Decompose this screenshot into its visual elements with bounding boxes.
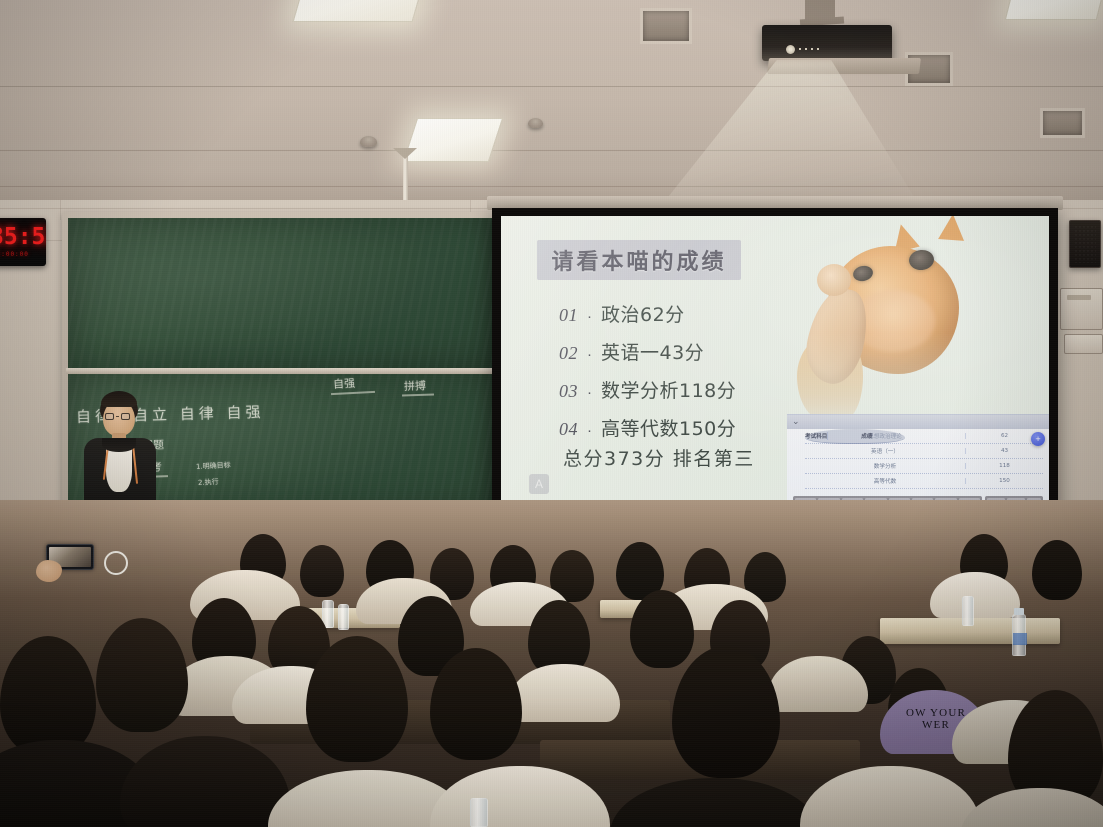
cell-score: 150 <box>965 478 1043 484</box>
projector-lens-icon <box>786 45 795 54</box>
list-item-separator: · <box>587 308 592 325</box>
list-item-number: 03 <box>559 381 578 402</box>
audience-head <box>300 545 344 597</box>
smoke-detector-icon <box>360 136 377 147</box>
list-item-separator: · <box>587 422 592 439</box>
water-bottle <box>962 596 974 626</box>
chalk-line: 1.明确目标 <box>196 460 231 472</box>
floating-action-button[interactable]: + <box>1031 432 1045 446</box>
embedded-score-table-screenshot: ⌄ 考试科目 成绩 思想政治理论 62 英语（一） 43 <box>787 414 1049 512</box>
slide-watermark-logo: A <box>529 474 549 494</box>
hair-accessory <box>104 551 128 575</box>
list-item-separator: · <box>587 346 592 363</box>
cell-score: 118 <box>965 463 1043 469</box>
chalk-line: 拼搏 <box>404 377 427 394</box>
column-header-subject: 考试科目 <box>805 432 827 440</box>
list-item: 02 · 英语一43分 <box>559 338 736 365</box>
ceiling-vent <box>640 8 692 44</box>
bottle-label <box>1013 633 1027 645</box>
table-row: 高等代数 150 <box>805 474 1043 489</box>
wall-control-panel <box>1060 288 1103 330</box>
ceiling-vent <box>1040 108 1085 138</box>
lecture-hall-photo: 自强 拼搏 自律、自立 自律 自强 解决问题 独立思考 1.明确目标 2.执行 … <box>0 0 1103 827</box>
list-item: 01 · 政治62分 <box>559 300 736 327</box>
water-bottle <box>338 604 349 630</box>
list-item-label: 政治62分 <box>601 300 685 327</box>
chalk-line: 自强 <box>333 375 356 392</box>
cell-subject: 数学分析 <box>805 462 965 470</box>
list-item-number: 02 <box>559 343 578 364</box>
ceiling-projector <box>762 25 892 61</box>
table-header-row: 考试科目 成绩 <box>805 429 905 444</box>
cat-meme-image <box>789 216 1049 420</box>
water-bottle <box>470 798 488 827</box>
smoke-detector-icon <box>528 118 543 128</box>
bottle-cap <box>1014 608 1024 615</box>
cell-score: 43 <box>965 448 1043 454</box>
presenter-glasses-icon <box>105 413 130 420</box>
slide-title: 请看本喵的成绩 <box>551 244 726 276</box>
presenter-hair-top <box>101 391 137 407</box>
ceiling-light-panel <box>293 0 428 22</box>
mic-cone <box>393 148 417 159</box>
cat-image-fade <box>789 216 1049 420</box>
slide-title-band: 请看本喵的成绩 <box>537 240 741 280</box>
chevron-down-icon: ⌄ <box>792 417 800 427</box>
list-item: 04 · 高等代数150分 <box>559 414 736 441</box>
wall-speaker <box>1069 220 1101 268</box>
list-item-label: 高等代数150分 <box>601 414 736 441</box>
screen-surface: 请看本喵的成绩 01 · 政治62分 02 · 英语一43分 03 <box>501 216 1049 512</box>
list-item-label: 英语一43分 <box>601 338 704 365</box>
ceiling <box>0 0 1103 215</box>
audience-head <box>1032 540 1082 600</box>
cell-subject: 高等代数 <box>805 477 965 485</box>
table-row: 英语（一） 43 <box>805 444 1043 459</box>
projection-screen: 请看本喵的成绩 01 · 政治62分 02 · 英语一43分 03 <box>492 208 1058 520</box>
cell-subject: 英语（一） <box>805 447 965 455</box>
water-bottle <box>1012 614 1026 656</box>
presenter <box>78 392 168 517</box>
list-item-label: 数学分析118分 <box>601 376 736 403</box>
column-header-score: 成绩 <box>827 432 905 440</box>
presentation-slide: 请看本喵的成绩 01 · 政治62分 02 · 英语一43分 03 <box>501 216 1049 512</box>
clock-time-display: 35:52 <box>0 226 46 249</box>
list-item-separator: · <box>587 384 592 401</box>
projector-plate <box>767 58 921 74</box>
list-item: 03 · 数学分析118分 <box>559 376 736 403</box>
slide-total-line: 总分373分 排名第三 <box>563 444 755 471</box>
shirt-text-line1: OW YOUR <box>906 707 966 719</box>
wall-panel-lower <box>1064 334 1103 354</box>
clock-secondary-display: 00:00:00 <box>0 251 46 258</box>
mini-app-topbar <box>787 415 1049 429</box>
shirt-text-line2: WER <box>922 719 950 731</box>
list-item-number: 01 <box>559 305 578 326</box>
slide-score-list: 01 · 政治62分 02 · 英语一43分 03 · 数学分析118分 <box>559 300 736 452</box>
ceiling-light-panel <box>403 118 503 162</box>
chalk-line: 2.执行 <box>198 477 219 488</box>
blackboard-surface-upper <box>68 218 496 368</box>
ceiling-light-panel <box>1005 0 1103 20</box>
digital-wall-clock: 35:52 00:00:00 <box>0 218 46 266</box>
table-row: 数学分析 118 <box>805 459 1043 474</box>
score-table: 考试科目 成绩 思想政治理论 62 英语（一） 43 数学分析 <box>805 429 1043 489</box>
list-item-number: 04 <box>559 419 578 440</box>
